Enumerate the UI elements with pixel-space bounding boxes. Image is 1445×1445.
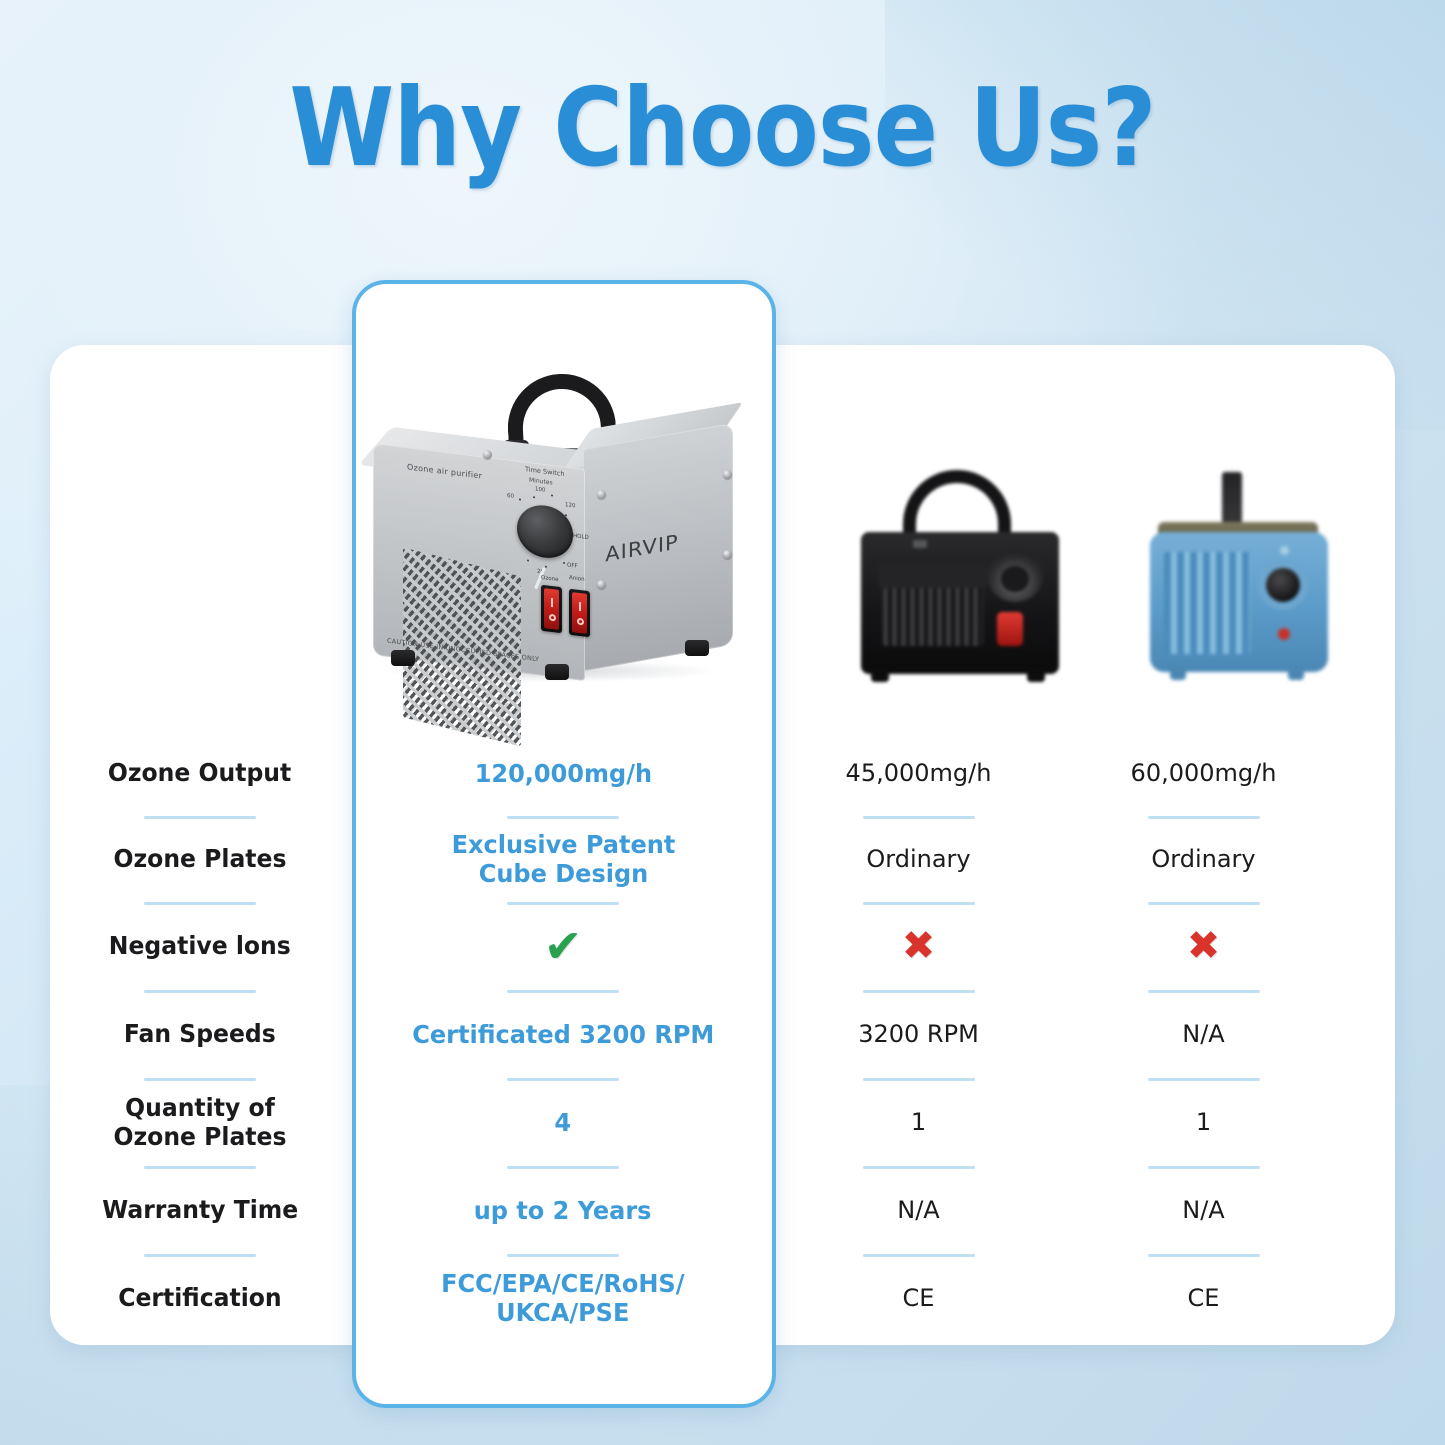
competitor-a-value-0: 45,000mg/h (776, 730, 1061, 816)
cell-divider (1148, 902, 1260, 905)
cell-value: Ozone Plates (114, 844, 287, 874)
cell-divider (144, 1166, 256, 1169)
cell-value: 120,000mg/h (474, 759, 651, 788)
cell-value: Quantity ofOzone Plates (114, 1093, 287, 1152)
cell-divider (863, 990, 975, 993)
competitor-b-value-5: N/A (1061, 1166, 1346, 1254)
table-row: Warranty Timeup to 2 YearsN/AN/A (50, 1166, 1395, 1254)
table-row: CertificationFCC/EPA/CE/RoHS/UKCA/PSECEC… (50, 1254, 1395, 1342)
row-label-2: Negative lons (50, 902, 350, 990)
competitor-a-value-4: 1 (776, 1078, 1061, 1166)
featured-value-0: 120,000mg/h (350, 730, 776, 816)
cell-value: Warranty Time (102, 1195, 298, 1225)
table-row: Negative lons✔✖✖ (50, 902, 1395, 990)
cell-value: Negative lons (109, 931, 291, 961)
cell-divider (1148, 990, 1260, 993)
featured-value-6: FCC/EPA/CE/RoHS/UKCA/PSE (350, 1254, 776, 1342)
competitor-b-value-2: ✖ (1061, 902, 1346, 990)
cell-divider (1148, 1078, 1260, 1081)
row-label-3: Fan Speeds (50, 990, 350, 1078)
cell-divider (863, 816, 975, 819)
row-label-5: Warranty Time (50, 1166, 350, 1254)
cell-value: up to 2 Years (474, 1196, 652, 1225)
cell-value: ✔ (544, 923, 583, 969)
cell-value: Fan Speeds (124, 1019, 276, 1049)
competitor-b-value-6: CE (1061, 1254, 1346, 1342)
cell-value: 60,000mg/h (1131, 759, 1277, 788)
competitor-b-value-0: 60,000mg/h (1061, 730, 1346, 816)
cell-value: 1 (911, 1108, 926, 1137)
cell-value: 3200 RPM (858, 1020, 979, 1049)
page-title: Why Choose Us? (87, 72, 1359, 185)
cell-divider (507, 1254, 619, 1257)
cell-value: N/A (1182, 1196, 1224, 1225)
cell-value: FCC/EPA/CE/RoHS/UKCA/PSE (441, 1269, 684, 1327)
comparison-table: Ozone Output120,000mg/h45,000mg/h60,000m… (50, 730, 1395, 1342)
cell-value: ✖ (1187, 926, 1221, 966)
table-row: Fan SpeedsCertificated 3200 RPM3200 RPMN… (50, 990, 1395, 1078)
cell-divider (144, 1078, 256, 1081)
cell-value: CE (1188, 1284, 1220, 1313)
cell-value: CE (903, 1284, 935, 1313)
cell-value: 4 (555, 1108, 572, 1137)
table-row: Ozone PlatesExclusive PatentCube DesignO… (50, 816, 1395, 902)
cell-value: 1 (1196, 1108, 1211, 1137)
cell-divider (507, 1166, 619, 1169)
competitor-a-value-6: CE (776, 1254, 1061, 1342)
featured-value-4: 4 (350, 1078, 776, 1166)
cell-divider (507, 1078, 619, 1081)
cell-divider (144, 990, 256, 993)
cell-divider (507, 816, 619, 819)
competitor-b-value-4: 1 (1061, 1078, 1346, 1166)
cell-divider (1148, 1166, 1260, 1169)
cell-value: N/A (1182, 1020, 1224, 1049)
featured-value-5: up to 2 Years (350, 1166, 776, 1254)
row-label-6: Certification (50, 1254, 350, 1342)
competitor-b-value-1: Ordinary (1061, 816, 1346, 902)
cell-value: ✖ (902, 926, 936, 966)
row-label-1: Ozone Plates (50, 816, 350, 902)
cell-value: N/A (897, 1196, 939, 1225)
cell-divider (144, 816, 256, 819)
competitor-a-value-2: ✖ (776, 902, 1061, 990)
cell-divider (863, 902, 975, 905)
competitor-a-value-3: 3200 RPM (776, 990, 1061, 1078)
cell-divider (507, 902, 619, 905)
cell-divider (1148, 1254, 1260, 1257)
cell-divider (507, 990, 619, 993)
cell-value: Exclusive PatentCube Design (451, 830, 675, 888)
table-row: Ozone Output120,000mg/h45,000mg/h60,000m… (50, 730, 1395, 816)
cell-value: Certification (118, 1283, 281, 1313)
cell-divider (144, 1254, 256, 1257)
cell-divider (1148, 816, 1260, 819)
row-label-0: Ozone Output (50, 730, 350, 816)
competitor-a-value-5: N/A (776, 1166, 1061, 1254)
table-row: Quantity ofOzone Plates411 (50, 1078, 1395, 1166)
competitor-b-value-3: N/A (1061, 990, 1346, 1078)
cell-value: Certificated 3200 RPM (412, 1020, 714, 1049)
cell-value: Ozone Output (108, 758, 291, 788)
featured-value-2: ✔ (350, 902, 776, 990)
featured-value-1: Exclusive PatentCube Design (350, 816, 776, 902)
cell-divider (863, 1166, 975, 1169)
cell-divider (144, 902, 256, 905)
row-label-4: Quantity ofOzone Plates (50, 1078, 350, 1166)
competitor-a-value-1: Ordinary (776, 816, 1061, 902)
cell-value: 45,000mg/h (846, 759, 992, 788)
featured-value-3: Certificated 3200 RPM (350, 990, 776, 1078)
cell-divider (863, 1254, 975, 1257)
cell-value: Ordinary (866, 845, 970, 874)
cell-divider (863, 1078, 975, 1081)
cell-value: Ordinary (1151, 845, 1255, 874)
